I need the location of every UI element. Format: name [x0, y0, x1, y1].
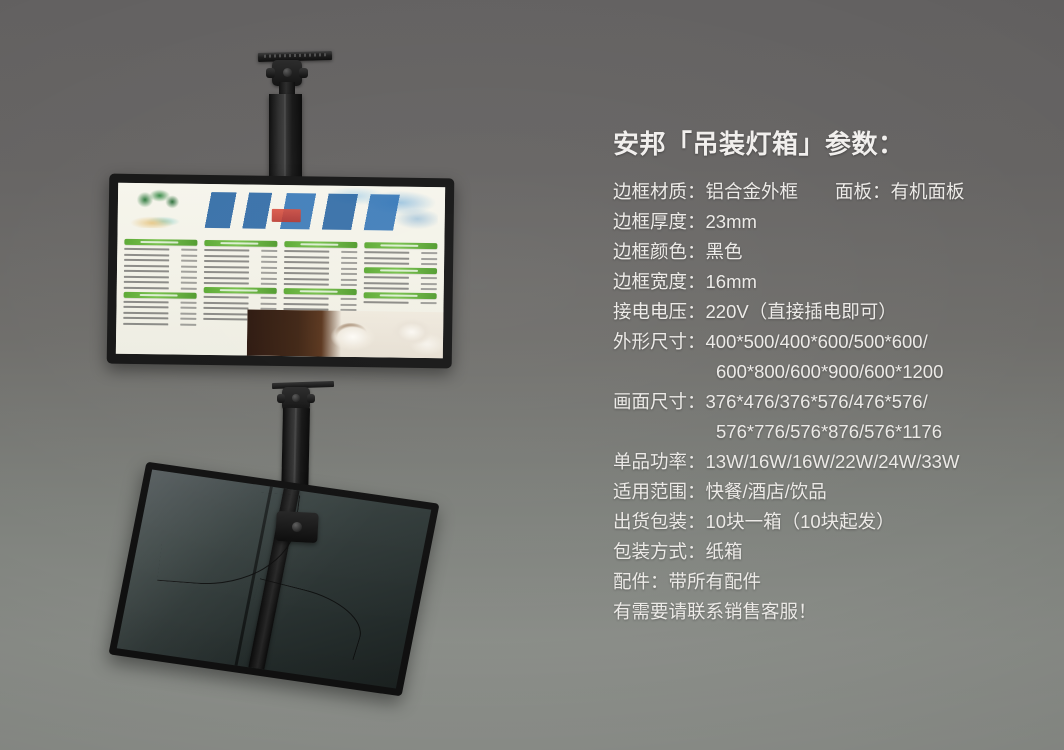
menu-row	[123, 286, 197, 290]
menu-row	[123, 270, 197, 274]
menu-item-price	[261, 303, 277, 305]
spec-line: 配件：带所有配件	[613, 567, 1053, 597]
spec-line: 576*776/576*876/576*1176	[613, 417, 1053, 447]
menu-row	[123, 311, 197, 315]
menu-item-price	[181, 249, 197, 251]
menu-item-name	[123, 323, 169, 326]
menu-row	[283, 283, 357, 287]
menu-headline-lettering	[203, 192, 406, 231]
menu-item-name	[123, 312, 169, 315]
menu-row	[204, 249, 278, 253]
specification-block: 安邦「吊装灯箱」参数： 边框材质：铝合金外框 面板：有机面板 边框厚度：23mm…	[613, 124, 1053, 627]
menu-item-price	[180, 313, 196, 315]
spec-line: 边框材质：铝合金外框 面板：有机面板	[613, 177, 1053, 207]
menu-item-price	[261, 283, 277, 285]
menu-item-price	[421, 283, 437, 285]
menu-row	[284, 250, 358, 254]
menu-section-header	[203, 287, 277, 294]
menu-row	[283, 302, 357, 306]
menu-item-name	[203, 318, 249, 321]
menu-item-price	[341, 298, 357, 300]
menu-row	[204, 271, 278, 275]
menu-item-price	[421, 302, 437, 304]
menu-hero-banner	[117, 183, 445, 246]
product-spec-image: 安邦「吊装灯箱」参数： 边框材质：铝合金外框 面板：有机面板 边框厚度：23mm…	[0, 0, 1064, 750]
menu-row	[123, 275, 197, 279]
menu-section-header	[283, 288, 357, 295]
menu-item-name	[203, 277, 249, 280]
menu-item-price	[181, 271, 197, 273]
menu-item-name	[284, 261, 330, 264]
menu-item-name	[283, 283, 329, 286]
menu-item-name	[284, 272, 330, 275]
spec-line: 单品功率：13W/16W/16W/22W/24W/33W	[613, 447, 1053, 477]
menu-item-name	[364, 257, 410, 260]
light-box-rear-panel	[108, 462, 439, 697]
spec-line: 边框厚度：23mm	[613, 207, 1053, 237]
menu-row	[283, 297, 357, 301]
menu-item-name	[284, 256, 330, 259]
menu-item-price	[261, 250, 277, 252]
menu-item-price	[181, 282, 197, 284]
menu-row	[123, 300, 197, 304]
light-box-display	[107, 174, 455, 369]
menu-item-name	[124, 259, 170, 262]
menu-item-price	[180, 318, 196, 320]
menu-item-price	[261, 256, 277, 258]
menu-item-name	[203, 282, 249, 285]
spec-line: 接电电压：220V（直接插电即可）	[613, 297, 1053, 327]
menu-item-price	[261, 297, 277, 299]
menu-section-header	[123, 292, 197, 299]
menu-item-name	[124, 254, 170, 257]
spec-line: 适用范围：快餐/酒店/饮品	[613, 477, 1053, 507]
menu-row	[364, 262, 438, 266]
swivel-knob-right-icon	[307, 394, 315, 403]
menu-item-name	[124, 248, 170, 251]
menu-item-price	[181, 266, 197, 268]
menu-item-price	[421, 288, 437, 290]
menu-item-name	[203, 296, 249, 299]
tube-seam-icon	[284, 94, 286, 186]
menu-row	[123, 322, 197, 326]
menu-row	[123, 317, 197, 321]
spec-title: 安邦「吊装灯箱」参数：	[613, 124, 1053, 161]
rear-panel-surface	[117, 469, 432, 688]
menu-artwork	[116, 183, 445, 359]
menu-column	[122, 239, 197, 355]
menu-item-price	[341, 262, 357, 264]
menu-item-price	[421, 263, 437, 265]
spec-line-list: 边框材质：铝合金外框 面板：有机面板 边框厚度：23mm 边框颜色：黑色 边框宽…	[613, 177, 1053, 627]
menu-item-price	[341, 304, 357, 306]
menu-item-price	[341, 251, 357, 253]
spec-line: 边框宽度：16mm	[613, 267, 1053, 297]
rear-panel-sheen	[117, 469, 432, 688]
menu-item-price	[261, 278, 277, 280]
menu-row	[203, 282, 277, 286]
menu-row	[364, 276, 438, 280]
menu-item-price	[261, 261, 277, 263]
menu-item-name	[123, 276, 169, 279]
menu-item-name	[123, 281, 169, 284]
menu-item-name	[203, 302, 249, 305]
menu-row	[123, 281, 197, 285]
menu-row	[204, 265, 278, 269]
menu-row	[124, 264, 198, 268]
menu-row	[364, 257, 438, 261]
swivel-knob-left-icon	[277, 394, 285, 403]
menu-row	[203, 296, 277, 300]
menu-item-price	[341, 273, 357, 275]
menu-item-name	[203, 313, 249, 316]
menu-item-name	[364, 263, 410, 266]
menu-row	[284, 272, 358, 276]
menu-row	[284, 255, 358, 259]
menu-item-name	[363, 282, 409, 285]
swivel-knob-left-icon	[266, 68, 275, 78]
spec-line: 包装方式：纸箱	[613, 537, 1053, 567]
menu-item-price	[181, 302, 197, 304]
menu-item-price	[181, 307, 197, 309]
menu-item-price	[341, 279, 357, 281]
menu-item-name	[284, 278, 330, 281]
menu-row	[204, 254, 278, 258]
spec-line: 有需要请联系销售客服！	[613, 597, 1053, 627]
menu-item-name	[204, 260, 250, 263]
menu-item-price	[261, 267, 277, 269]
coffee-photo	[247, 309, 444, 358]
spec-line: 600*800/600*900/600*1200	[613, 357, 1053, 387]
menu-item-price	[181, 255, 197, 257]
clamp-bolt-icon	[292, 522, 303, 533]
menu-headline-accent-icon	[271, 209, 301, 222]
menu-item-name	[363, 302, 409, 305]
menu-section-header	[363, 293, 437, 300]
spec-line: 外形尺寸：400*500/400*600/500*600/	[613, 327, 1053, 357]
menu-item-name	[284, 250, 330, 253]
menu-item-name	[283, 303, 329, 306]
menu-panel	[116, 183, 445, 359]
menu-item-price	[421, 252, 437, 254]
menu-item-name	[123, 301, 169, 304]
product-photo	[0, 0, 600, 750]
spec-line: 画面尺寸：376*476/376*576/476*576/	[613, 387, 1053, 417]
menu-item-name	[123, 287, 169, 290]
rear-panel-mount-clamp-icon	[275, 511, 319, 543]
menu-row	[203, 301, 277, 305]
menu-item-price	[261, 272, 277, 274]
menu-item-name	[284, 267, 330, 270]
menu-item-name	[204, 266, 250, 269]
menu-item-name	[364, 252, 410, 255]
menu-item-name	[124, 265, 170, 268]
swivel-pin-icon	[292, 394, 300, 402]
swivel-pin-icon	[283, 68, 292, 77]
menu-row	[363, 282, 437, 286]
menu-item-price	[341, 257, 357, 259]
menu-item-price	[421, 258, 437, 260]
spec-line: 边框颜色：黑色	[613, 237, 1053, 267]
menu-row	[284, 261, 358, 265]
menu-row	[124, 259, 198, 263]
menu-item-name	[283, 297, 329, 300]
ceiling-mount-tube-icon	[269, 94, 302, 186]
menu-row	[283, 277, 357, 281]
menu-item-price	[181, 260, 197, 262]
menu-item-name	[204, 271, 250, 274]
menu-item-price	[180, 324, 196, 326]
menu-section-header	[364, 243, 438, 250]
spec-line: 出货包装：10块一箱（10块起发）	[613, 507, 1053, 537]
menu-item-price	[341, 284, 357, 286]
menu-item-price	[181, 277, 197, 279]
menu-item-name	[364, 277, 410, 280]
menu-section-header	[124, 239, 198, 246]
menu-section-header	[364, 268, 438, 275]
menu-row	[364, 251, 438, 255]
menu-row	[363, 301, 437, 305]
swivel-knob-right-icon	[299, 68, 308, 78]
menu-item-name	[203, 307, 249, 310]
menu-row	[363, 287, 437, 291]
menu-item-price	[421, 277, 437, 279]
menu-item-name	[204, 255, 250, 258]
menu-section-header	[204, 240, 278, 247]
menu-item-name	[204, 249, 250, 252]
menu-row	[124, 253, 198, 257]
menu-row	[284, 266, 358, 270]
menu-item-name	[123, 317, 169, 320]
menu-item-price	[341, 268, 357, 270]
menu-item-name	[123, 270, 169, 273]
menu-row	[203, 276, 277, 280]
menu-row	[123, 306, 197, 310]
menu-row	[204, 260, 278, 264]
menu-item-name	[363, 288, 409, 291]
menu-item-name	[123, 306, 169, 309]
menu-section-header	[284, 241, 358, 248]
menu-row	[124, 248, 198, 252]
menu-item-price	[181, 288, 197, 290]
